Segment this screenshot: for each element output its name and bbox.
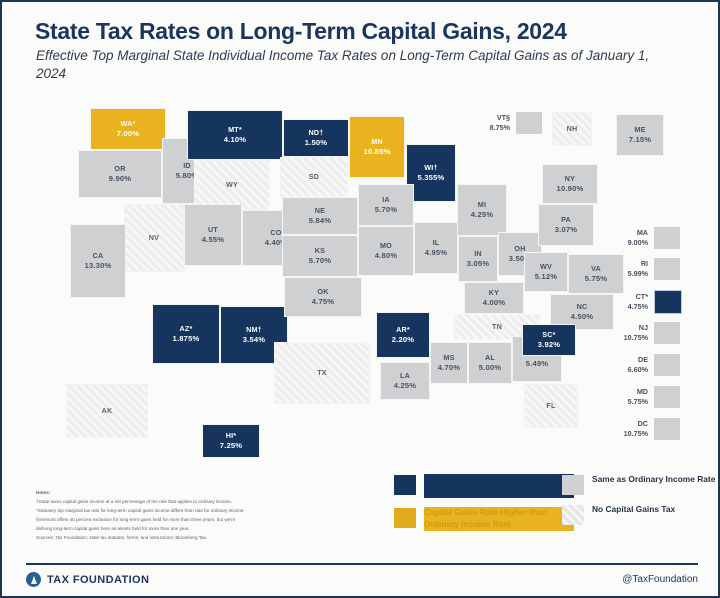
- state-label-HI: HI*: [226, 431, 237, 441]
- notes-line-3: §Vermont offers 40 percent exclusion for…: [36, 516, 376, 525]
- box-state-DE-label: DE6.60%: [602, 355, 648, 375]
- infographic-page: State Tax Rates on Long-Term Capital Gai…: [0, 0, 720, 598]
- state-rate-GA: 5.49%: [526, 359, 549, 369]
- state-MI[interactable]: MI 4.25%: [457, 184, 507, 236]
- state-MS[interactable]: MS 4.70%: [430, 342, 468, 384]
- page-background: State Tax Rates on Long-Term Capital Gai…: [2, 2, 718, 596]
- state-AL[interactable]: AL 5.00%: [468, 342, 512, 384]
- state-label-AL: AL: [485, 353, 495, 363]
- state-rate-KS: 5.70%: [309, 256, 332, 266]
- notes-sources: Sources: Tax Foundation; state tax statu…: [36, 534, 376, 543]
- social-handle[interactable]: @TaxFoundation: [622, 574, 698, 585]
- state-rate-LA: 4.25%: [394, 381, 417, 391]
- state-label-WA: WA*: [121, 119, 136, 129]
- legend-label-hatch: No Capital Gains Tax: [592, 504, 720, 516]
- state-rate-WA: 7.00%: [117, 129, 140, 139]
- state-OK[interactable]: OK 4.75%: [284, 277, 362, 317]
- box-state-RI-label: RI5.99%: [602, 259, 648, 279]
- state-rate-ME: 7.15%: [629, 135, 652, 145]
- box-state-NJ-swatch: [654, 322, 680, 344]
- state-HI[interactable]: HI* 7.25%: [202, 424, 260, 458]
- state-rate-AR: 2.20%: [392, 335, 415, 345]
- state-FL[interactable]: FL: [524, 384, 578, 428]
- box-state-VT-label: VT§8.75%: [464, 113, 510, 133]
- state-label-NV: NV: [149, 233, 159, 243]
- state-label-MO: MO: [380, 241, 392, 251]
- box-state-DC-rate: 10.75%: [602, 429, 648, 439]
- state-rate-ND: 1.50%: [305, 138, 328, 148]
- state-rate-MO: 4.80%: [375, 251, 398, 261]
- state-label-KY: KY: [489, 288, 499, 298]
- state-label-UT: UT: [208, 225, 218, 235]
- box-state-RI-swatch: [654, 258, 680, 280]
- legend-label-navy: Capital Gains Rate Lower than Ordinary I…: [424, 474, 574, 498]
- box-state-MD-label: MD5.75%: [602, 387, 648, 407]
- state-OR[interactable]: OR 9.90%: [78, 150, 162, 198]
- box-state-DE[interactable]: DE6.60%: [602, 354, 680, 376]
- state-label-WV: WV: [540, 262, 552, 272]
- box-state-MA-rate: 9.00%: [602, 238, 648, 248]
- box-state-DC-label: DC10.75%: [602, 419, 648, 439]
- state-label-FL: FL: [546, 401, 555, 411]
- state-KY[interactable]: KY 4.00%: [464, 282, 524, 314]
- notes-line-2: *Statutory top marginal tax rate for lon…: [36, 507, 376, 516]
- state-label-SD: SD: [309, 172, 319, 182]
- notes-line-4: defining long-term capital gains here as…: [36, 525, 376, 534]
- state-label-LA: LA: [400, 371, 410, 381]
- us-choropleth-map: WA* 7.00% OR 9.90% ID 5.80% MT* 4.10% WY…: [2, 94, 720, 464]
- state-label-OR: OR: [114, 164, 125, 174]
- box-state-RI[interactable]: RI5.99%: [602, 258, 680, 280]
- state-rate-MS: 4.70%: [438, 363, 461, 373]
- state-KS[interactable]: KS 5.70%: [282, 235, 358, 277]
- state-NY[interactable]: NY 10.90%: [542, 164, 598, 204]
- state-label-SC: SC*: [542, 330, 555, 340]
- notes-line-1: †State taxes capital gains income at a s…: [36, 498, 376, 507]
- box-state-NJ-rate: 10.75%: [602, 333, 648, 343]
- page-subtitle: Effective Top Marginal State Individual …: [36, 47, 676, 83]
- state-IL[interactable]: IL 4.95%: [414, 222, 458, 274]
- legend-label-gray: Same as Ordinary Income Rate: [592, 474, 720, 486]
- box-state-MA-label: MA9.00%: [602, 228, 648, 248]
- state-rate-WV: 5.12%: [535, 272, 558, 282]
- state-rate-KY: 4.00%: [483, 298, 506, 308]
- box-state-DE-rate: 6.60%: [602, 365, 648, 375]
- state-rate-IN: 3.05%: [467, 259, 490, 269]
- state-IA[interactable]: IA 5.70%: [358, 184, 414, 226]
- state-label-WI: WI†: [424, 163, 437, 173]
- notes-block: Notes: †State taxes capital gains income…: [36, 489, 376, 543]
- box-state-VT-swatch: [516, 112, 542, 134]
- state-label-PA: PA: [561, 215, 571, 225]
- tax-foundation-logo[interactable]: TAX FOUNDATION: [26, 572, 149, 587]
- box-state-CT[interactable]: CT*4.75%: [602, 290, 682, 314]
- state-NH[interactable]: NH: [552, 112, 592, 146]
- state-label-IA: IA: [382, 195, 390, 205]
- state-rate-MN: 10.85%: [364, 147, 391, 157]
- state-label-KS: KS: [315, 246, 325, 256]
- box-state-VT-rate: 8.75%: [464, 123, 510, 133]
- state-SC[interactable]: SC* 3.92%: [522, 324, 576, 356]
- state-rate-PA: 3.07%: [555, 225, 578, 235]
- state-label-IL: IL: [433, 238, 440, 248]
- footer-divider: [26, 563, 698, 565]
- state-PA[interactable]: PA 3.07%: [538, 204, 594, 246]
- state-rate-NE: 5.84%: [309, 216, 332, 226]
- map-legend: Capital Gains Rate Lower than Ordinary I…: [394, 474, 704, 540]
- state-label-AZ: AZ*: [180, 324, 193, 334]
- state-rate-WI: 5.355%: [418, 173, 445, 183]
- state-rate-UT: 4.55%: [202, 235, 225, 245]
- state-NV[interactable]: NV: [124, 204, 184, 272]
- state-CA[interactable]: CA 13.30%: [70, 224, 126, 298]
- state-label-CA: CA: [93, 251, 104, 261]
- box-state-MA[interactable]: MA9.00%: [602, 227, 680, 249]
- box-state-MD[interactable]: MD5.75%: [602, 386, 680, 408]
- state-label-IN: IN: [474, 249, 482, 259]
- state-label-CO: CO: [270, 228, 281, 238]
- state-ND[interactable]: ND† 1.50%: [283, 119, 349, 157]
- state-rate-SC: 3.92%: [538, 340, 561, 350]
- state-label-VA: VA: [591, 264, 601, 274]
- state-label-ND: ND†: [309, 128, 324, 138]
- legend-swatch-navy: [394, 475, 416, 495]
- state-SD[interactable]: SD: [280, 157, 348, 197]
- state-label-MI: MI: [478, 200, 486, 210]
- state-IN[interactable]: IN 3.05%: [458, 236, 498, 282]
- notes-heading: Notes:: [36, 489, 376, 498]
- state-label-MT: MT*: [228, 125, 242, 135]
- state-rate-NM: 3.54%: [243, 335, 266, 345]
- state-rate-CA: 13.30%: [85, 261, 112, 271]
- legend-swatch-gold: [394, 508, 416, 528]
- state-label-NE: NE: [315, 206, 325, 216]
- state-LA[interactable]: LA 4.25%: [380, 362, 430, 400]
- state-label-NH: NH: [567, 124, 578, 134]
- state-AR[interactable]: AR* 2.20%: [376, 312, 430, 358]
- legend-column-2: Same as Ordinary Income Rate No Capital …: [562, 474, 720, 534]
- state-MT[interactable]: MT* 4.10%: [187, 110, 283, 160]
- box-state-CT-rate: 4.75%: [602, 302, 648, 312]
- state-UT[interactable]: UT 4.55%: [184, 204, 242, 266]
- state-rate-OK: 4.75%: [312, 297, 335, 307]
- state-label-TX: TX: [317, 368, 327, 378]
- legend-swatch-hatch: [562, 505, 584, 525]
- state-label-WY: WY: [226, 180, 238, 190]
- state-ME[interactable]: ME 7.15%: [616, 114, 664, 156]
- state-rate-AL: 5.00%: [479, 363, 502, 373]
- state-label-NM: NM†: [246, 325, 262, 335]
- state-NE[interactable]: NE 5.84%: [282, 197, 358, 235]
- box-state-VT[interactable]: VT§8.75%: [464, 112, 542, 134]
- box-state-DC-swatch: [654, 418, 680, 440]
- legend-swatch-gray: [562, 475, 584, 495]
- box-state-NJ[interactable]: NJ10.75%: [602, 322, 680, 344]
- state-label-MS: MS: [443, 353, 454, 363]
- legend-label-gold: Capital Gains Rate Higher than Ordinary …: [424, 507, 574, 531]
- legend-item-hatch: No Capital Gains Tax: [562, 504, 720, 525]
- state-rate-MT: 4.10%: [224, 135, 247, 145]
- box-state-CT-swatch: [654, 290, 682, 314]
- state-WV[interactable]: WV 5.12%: [524, 252, 568, 292]
- state-label-OK: OK: [317, 287, 328, 297]
- mountain-icon: [26, 572, 41, 587]
- state-label-AR: AR*: [396, 325, 410, 335]
- state-rate-HI: 7.25%: [220, 441, 243, 451]
- state-MN[interactable]: MN 10.85%: [349, 116, 405, 178]
- state-rate-NY: 10.90%: [557, 184, 584, 194]
- state-label-NY: NY: [565, 174, 575, 184]
- state-WY[interactable]: WY: [194, 160, 270, 210]
- page-title: State Tax Rates on Long-Term Capital Gai…: [35, 18, 567, 45]
- state-rate-IA: 5.70%: [375, 205, 398, 215]
- state-rate-IL: 4.95%: [425, 248, 448, 258]
- state-label-MN: MN: [371, 137, 383, 147]
- box-state-MD-swatch: [654, 386, 680, 408]
- state-label-NC: NC: [577, 302, 588, 312]
- state-AK[interactable]: AK: [66, 384, 148, 438]
- state-TX[interactable]: TX: [274, 342, 370, 404]
- box-state-MD-rate: 5.75%: [602, 397, 648, 407]
- state-label-ID: ID: [183, 161, 191, 171]
- box-state-CT-label: CT*4.75%: [602, 292, 648, 312]
- state-AZ[interactable]: AZ* 1.875%: [152, 304, 220, 364]
- box-state-DC[interactable]: DC10.75%: [602, 418, 680, 440]
- state-label-ME: ME: [634, 125, 645, 135]
- box-state-RI-rate: 5.99%: [602, 269, 648, 279]
- state-label-AK: AK: [102, 406, 113, 416]
- state-WA[interactable]: WA* 7.00%: [90, 108, 166, 150]
- org-name: TAX FOUNDATION: [47, 574, 149, 586]
- state-label-TN: TN: [492, 322, 502, 332]
- state-rate-NC: 4.50%: [571, 312, 594, 322]
- state-MO[interactable]: MO 4.80%: [358, 226, 414, 276]
- box-state-MA-swatch: [654, 227, 680, 249]
- state-rate-MI: 4.25%: [471, 210, 494, 220]
- state-rate-OR: 9.90%: [109, 174, 132, 184]
- box-state-DE-swatch: [654, 354, 680, 376]
- legend-item-gray: Same as Ordinary Income Rate: [562, 474, 720, 495]
- box-state-NJ-label: NJ10.75%: [602, 323, 648, 343]
- state-rate-AZ: 1.875%: [173, 334, 200, 344]
- footer: TAX FOUNDATION @TaxFoundation: [26, 572, 698, 594]
